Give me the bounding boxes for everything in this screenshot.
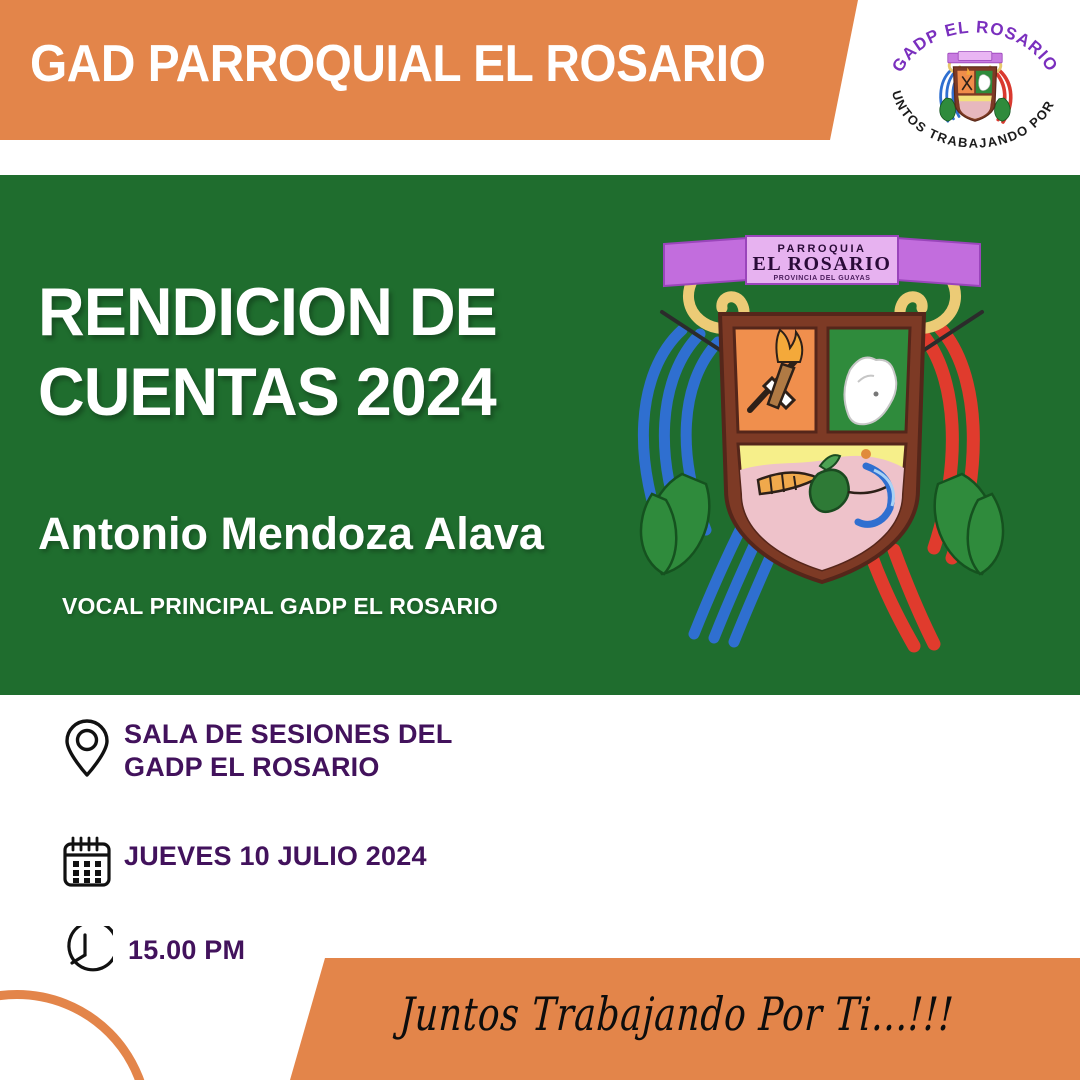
- detail-row-location: SALA DE SESIONES DEL GADP EL ROSARIO: [56, 712, 453, 784]
- location-pin-icon: [56, 712, 118, 784]
- page-title-line1: RENDICION DE: [38, 272, 589, 352]
- detail-time-text: 15.00 PM: [116, 918, 245, 967]
- decorative-ring: [0, 990, 152, 1080]
- speaker-name: Antonio Mendoza Alava: [38, 508, 638, 560]
- detail-row-time: 15.00 PM: [54, 918, 245, 990]
- page-title: RENDICION DE CUENTAS 2024: [38, 272, 618, 432]
- clock-icon: [54, 918, 116, 990]
- detail-location-text: SALA DE SESIONES DEL GADP EL ROSARIO: [118, 712, 453, 784]
- svg-text:PROVINCIA DEL GUAYAS: PROVINCIA DEL GUAYAS: [773, 275, 870, 282]
- gadp-el-rosario-crest-icon: GADP EL ROSARIO: [875, 4, 1075, 156]
- detail-location-line1: SALA DE SESIONES DEL: [124, 719, 453, 749]
- poster-canvas: GAD PARROQUIAL EL ROSARIO GADP EL ROSARI…: [0, 0, 1080, 1080]
- parroquia-el-rosario-coat-of-arms-icon: PARROQUIA EL ROSARIO PROVINCIA DEL GUAYA…: [622, 222, 1022, 682]
- calendar-icon: [56, 826, 118, 898]
- svg-text:EL ROSARIO: EL ROSARIO: [753, 253, 892, 275]
- detail-location-line2: GADP EL ROSARIO: [124, 752, 380, 782]
- speaker-role: VOCAL PRINCIPAL GADP EL ROSARIO: [62, 592, 662, 620]
- page-title-line2: CUENTAS 2024: [38, 352, 589, 432]
- org-title: GAD PARROQUIAL EL ROSARIO: [30, 34, 757, 94]
- footer-slogan: Juntos Trabajando Por Ti...!!!: [398, 986, 885, 1042]
- detail-row-date: JUEVES 10 JULIO 2024: [56, 826, 427, 898]
- detail-date-text: JUEVES 10 JULIO 2024: [118, 826, 427, 873]
